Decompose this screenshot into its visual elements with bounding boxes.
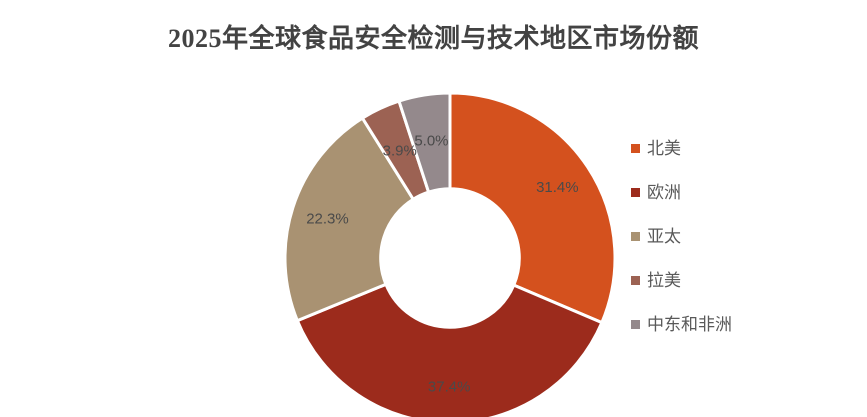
donut-slice[interactable] xyxy=(297,284,601,417)
slice-value-label: 5.0% xyxy=(414,133,448,150)
donut-slice[interactable] xyxy=(450,93,615,323)
legend-color-swatch-icon xyxy=(631,188,640,197)
legend-item[interactable]: 北美 xyxy=(631,126,841,170)
legend-color-swatch-icon xyxy=(631,232,640,241)
legend-color-swatch-icon xyxy=(631,276,640,285)
donut-slices-group xyxy=(285,93,615,417)
chart-title: 2025年全球食品安全检测与技术地区市场份额 xyxy=(0,18,867,55)
legend-item-label: 拉美 xyxy=(647,272,681,289)
chart-container: 2025年全球食品安全检测与技术地区市场份额 31.4%37.4%22.3%3.… xyxy=(0,0,867,417)
donut-chart-svg: 31.4%37.4%22.3%3.9%5.0% xyxy=(255,85,645,417)
legend-item[interactable]: 中东和非洲 xyxy=(631,302,841,346)
chart-legend: 北美欧洲亚太拉美中东和非洲 xyxy=(631,126,841,346)
slice-value-label: 3.9% xyxy=(383,142,417,159)
slice-value-label: 37.4% xyxy=(428,379,471,396)
legend-item[interactable]: 拉美 xyxy=(631,258,841,302)
slice-value-label: 22.3% xyxy=(306,211,349,228)
legend-item-label: 亚太 xyxy=(647,228,681,245)
legend-item[interactable]: 欧洲 xyxy=(631,170,841,214)
legend-item-label: 中东和非洲 xyxy=(647,316,732,333)
legend-color-swatch-icon xyxy=(631,144,640,153)
legend-item-label: 北美 xyxy=(647,140,681,157)
legend-item[interactable]: 亚太 xyxy=(631,214,841,258)
legend-color-swatch-icon xyxy=(631,320,640,329)
legend-item-label: 欧洲 xyxy=(647,184,681,201)
donut-plot-area: 31.4%37.4%22.3%3.9%5.0% xyxy=(255,85,645,417)
slice-value-label: 31.4% xyxy=(536,179,579,196)
